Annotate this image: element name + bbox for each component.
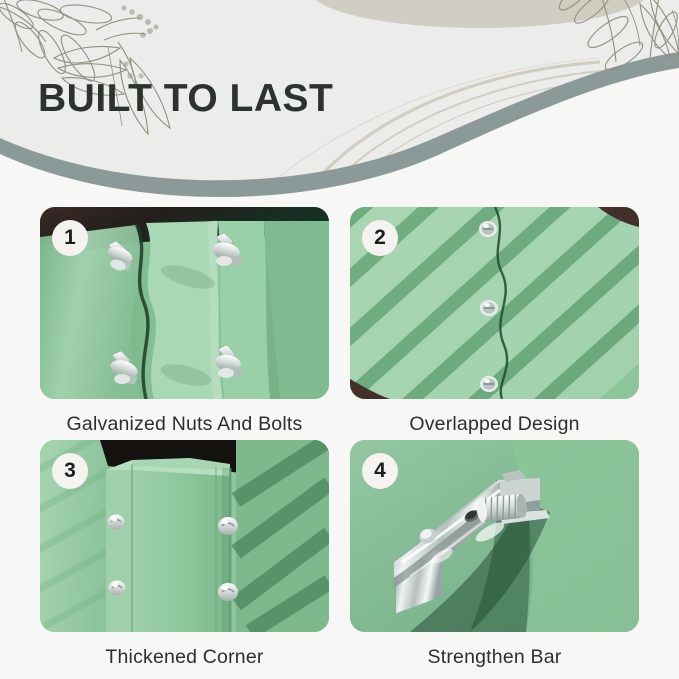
feature-badge-2: 2	[362, 220, 398, 256]
feature-item-1[interactable]: 1 Galvanized Nuts And Bolts	[40, 207, 329, 436]
beige-blob	[310, 0, 650, 28]
feature-item-3[interactable]: 3 Thickened Corner	[40, 440, 329, 669]
page-title: BUILT TO LAST	[38, 79, 333, 118]
feature-photo-1: 1	[40, 207, 329, 399]
feature-caption-3: Thickened Corner	[40, 646, 329, 669]
feature-grid: 1 Galvanized Nuts And Bolts	[0, 200, 679, 679]
feature-photo-2: 2	[350, 207, 639, 399]
screw-icon	[218, 583, 238, 601]
feature-caption-1: Galvanized Nuts And Bolts	[40, 413, 329, 436]
screw-icon	[480, 376, 498, 392]
feature-badge-4: 4	[362, 453, 398, 489]
screw-icon	[480, 300, 498, 316]
feature-photo-3: 3	[40, 440, 329, 632]
feature-caption-4: Strengthen Bar	[350, 646, 639, 669]
feature-caption-2: Overlapped Design	[350, 413, 639, 436]
screw-icon	[109, 581, 126, 596]
header-banner: BUILT TO LAST	[0, 0, 679, 200]
feature-photo-4: 4	[350, 440, 639, 632]
feature-item-4[interactable]: 4 Strengthen Bar	[350, 440, 639, 669]
feature-item-2[interactable]: 2 Overlapped Design	[350, 207, 639, 436]
screw-icon	[218, 517, 238, 535]
feature-badge-3: 3	[52, 453, 88, 489]
screw-icon	[108, 515, 125, 530]
infographic-page: BUILT TO LAST	[0, 0, 679, 679]
screw-icon	[479, 221, 497, 237]
feature-badge-1: 1	[52, 220, 88, 256]
